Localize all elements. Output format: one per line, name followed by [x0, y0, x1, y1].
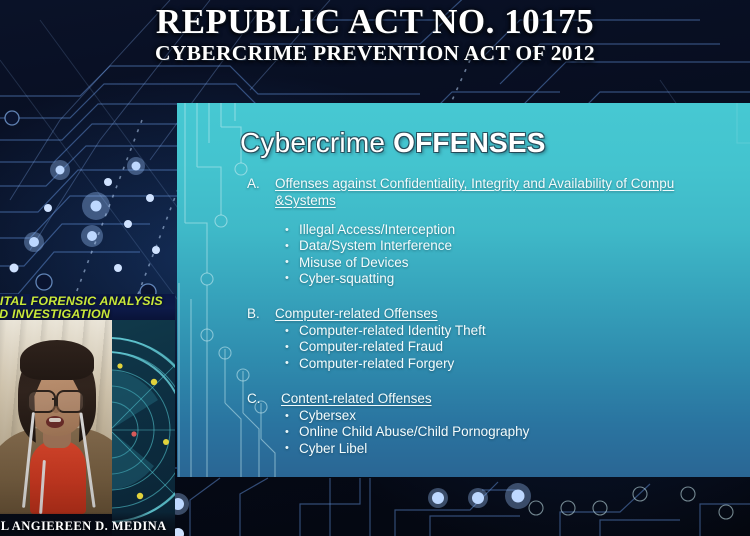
list-item: Data/System Interference — [285, 238, 455, 254]
course-title-banner: GITAL FORENSIC ANALYSIS ND INVESTIGATION — [0, 294, 175, 320]
video-frame: REPUBLIC ACT NO. 10175 CYBERCRIME PREVEN… — [0, 0, 750, 536]
page-subtitle: CYBERCRIME PREVENTION ACT OF 2012 — [0, 41, 750, 66]
section-a-title-line2: &Systems — [275, 193, 336, 208]
list-item: Cyber Libel — [285, 441, 529, 457]
list-item: Illegal Access/Interception — [285, 222, 455, 238]
webcam-overlay[interactable]: GITAL FORENSIC ANALYSIS ND INVESTIGATION — [0, 294, 175, 536]
presenter-nose — [52, 406, 60, 413]
presenter-name: EL ANGIEREEN D. MEDINA — [0, 519, 167, 534]
section-c-letter: C. — [247, 391, 261, 406]
section-c-title: Content-related Offenses — [281, 391, 432, 406]
hud-rings-svg — [112, 330, 175, 530]
list-item: Computer-related Forgery — [285, 356, 486, 372]
presenter-shirt — [30, 440, 86, 514]
slide-heading-light: Cybercrime — [240, 127, 393, 158]
list-item: Cyber-squatting — [285, 271, 455, 287]
section-b-title: Computer-related Offenses — [275, 306, 438, 321]
section-b-letter: B. — [247, 306, 260, 321]
presenter-hair-top — [20, 340, 94, 380]
list-item: Online Child Abuse/Child Pornography — [285, 424, 529, 440]
list-item: Misuse of Devices — [285, 255, 455, 271]
list-item: Cybersex — [285, 408, 529, 424]
section-a-bullets: Illegal Access/Interception Data/System … — [285, 222, 455, 287]
presenter-figure — [0, 320, 112, 514]
section-c-bullets: Cybersex Online Child Abuse/Child Pornog… — [285, 408, 529, 457]
section-a-title-line1: Offenses against Confidentiality, Integr… — [275, 176, 674, 191]
slide-heading: Cybercrime OFFENSES — [240, 127, 546, 159]
slide-heading-bold: OFFENSES — [393, 127, 546, 158]
presenter-mouth — [46, 416, 64, 428]
course-title-line2: ND INVESTIGATION — [0, 307, 110, 321]
glasses-bridge — [52, 398, 56, 400]
list-item: Computer-related Fraud — [285, 339, 486, 355]
presentation-header: REPUBLIC ACT NO. 10175 CYBERCRIME PREVEN… — [0, 0, 750, 66]
hud-graphic — [112, 320, 175, 536]
section-a-letter: A. — [247, 176, 260, 191]
section-b-bullets: Computer-related Identity Theft Computer… — [285, 323, 486, 372]
presenter-name-banner: EL ANGIEREEN D. MEDINA — [0, 512, 175, 536]
glasses-right-lens — [56, 390, 85, 413]
presenter-video[interactable] — [0, 320, 112, 514]
list-item: Computer-related Identity Theft — [285, 323, 486, 339]
page-title: REPUBLIC ACT NO. 10175 — [0, 4, 750, 40]
slide-panel: Cybercrime OFFENSES A. Offenses against … — [177, 103, 750, 477]
